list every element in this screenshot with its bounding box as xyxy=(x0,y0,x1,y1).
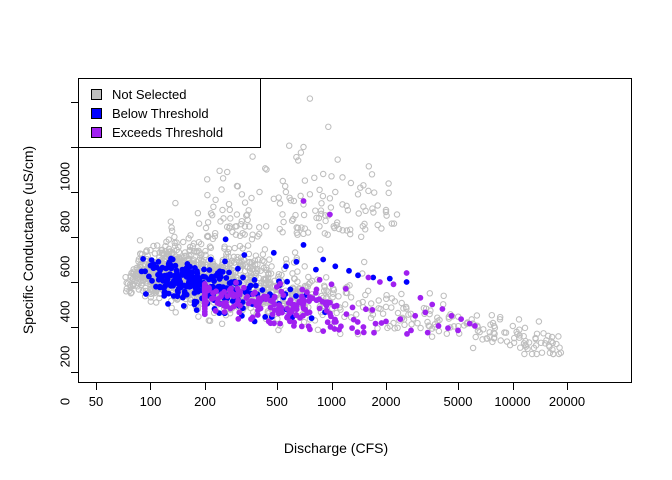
data-point xyxy=(376,298,381,303)
data-point xyxy=(224,293,230,299)
data-point xyxy=(370,307,376,313)
data-point xyxy=(522,351,527,356)
data-point xyxy=(441,293,446,298)
data-point xyxy=(168,219,173,224)
data-point xyxy=(195,274,201,280)
data-point xyxy=(232,245,237,250)
data-point xyxy=(333,189,338,194)
data-point xyxy=(332,263,338,269)
data-point xyxy=(181,239,186,244)
data-point xyxy=(241,252,247,258)
data-point xyxy=(384,296,389,301)
data-point xyxy=(399,291,404,296)
data-point xyxy=(202,282,208,288)
data-point xyxy=(473,334,478,339)
data-point xyxy=(275,316,280,321)
data-point xyxy=(172,234,177,239)
data-point xyxy=(256,300,262,306)
legend-swatch-not-selected xyxy=(91,89,102,100)
x-tick-label: 20000 xyxy=(549,394,585,409)
data-point xyxy=(474,313,479,318)
data-point xyxy=(173,200,178,205)
data-point xyxy=(226,201,231,206)
data-point xyxy=(375,222,380,227)
data-point xyxy=(510,323,515,328)
data-point xyxy=(295,269,300,274)
data-point xyxy=(317,187,322,192)
data-point xyxy=(146,274,152,280)
data-point xyxy=(288,297,294,303)
data-point xyxy=(386,181,391,186)
x-tick-label: 200 xyxy=(194,394,216,409)
data-point xyxy=(180,267,186,273)
data-point xyxy=(536,319,541,324)
data-point xyxy=(380,311,385,316)
data-point xyxy=(207,267,213,273)
data-point xyxy=(252,277,258,283)
data-point xyxy=(228,216,233,221)
data-point xyxy=(249,298,255,304)
data-point xyxy=(504,339,509,344)
data-point xyxy=(157,284,163,290)
data-point xyxy=(427,291,432,296)
data-point xyxy=(323,218,328,223)
data-point xyxy=(304,310,310,316)
data-point xyxy=(324,275,329,280)
data-point xyxy=(355,329,361,335)
data-point xyxy=(155,272,161,278)
data-point xyxy=(355,192,360,197)
data-point xyxy=(301,242,307,248)
data-point xyxy=(165,301,171,307)
data-point xyxy=(203,225,208,230)
data-point xyxy=(219,291,225,297)
x-tick-label: 5000 xyxy=(444,394,473,409)
data-point xyxy=(445,325,451,331)
data-point xyxy=(244,295,250,301)
data-point xyxy=(257,225,262,230)
data-point xyxy=(219,187,224,192)
data-point xyxy=(228,286,234,292)
data-point xyxy=(205,220,210,225)
data-point xyxy=(301,144,306,149)
data-point xyxy=(234,301,240,307)
data-point xyxy=(245,243,250,248)
data-point xyxy=(302,264,307,269)
data-point xyxy=(317,224,322,229)
data-point xyxy=(313,267,319,273)
data-point xyxy=(217,168,222,173)
x-axis-title: Discharge (CFS) xyxy=(0,440,672,456)
data-point xyxy=(320,257,326,263)
data-point xyxy=(281,219,286,224)
data-point xyxy=(556,334,561,339)
data-point xyxy=(335,157,340,162)
data-point xyxy=(167,271,173,277)
data-point xyxy=(220,207,225,212)
data-point xyxy=(397,316,403,322)
data-point xyxy=(325,289,330,294)
data-point xyxy=(154,300,159,305)
data-point xyxy=(418,295,424,301)
data-point xyxy=(301,212,306,217)
data-point xyxy=(489,313,494,318)
data-point xyxy=(266,319,272,325)
data-point xyxy=(373,321,379,327)
data-point xyxy=(201,267,207,273)
data-point xyxy=(404,279,410,285)
data-point xyxy=(386,190,391,195)
data-point xyxy=(219,321,224,326)
data-point xyxy=(137,238,142,243)
data-point xyxy=(248,283,254,289)
data-point xyxy=(287,287,293,293)
data-point xyxy=(366,188,371,193)
data-point xyxy=(329,281,335,287)
data-point xyxy=(160,265,166,271)
data-point xyxy=(302,178,307,183)
data-point xyxy=(250,291,256,297)
data-point xyxy=(215,270,221,276)
data-point xyxy=(140,256,146,262)
data-point xyxy=(429,334,434,339)
x-tick-label: 2000 xyxy=(372,394,401,409)
data-point xyxy=(183,283,189,289)
data-point xyxy=(227,207,232,212)
data-point xyxy=(343,302,348,307)
data-point xyxy=(394,212,399,217)
data-point xyxy=(313,208,318,213)
data-point xyxy=(383,304,388,309)
data-point xyxy=(196,314,201,319)
x-tick-label: 500 xyxy=(266,394,288,409)
data-point xyxy=(223,303,229,309)
data-point xyxy=(250,315,256,321)
data-point xyxy=(164,282,170,288)
data-point xyxy=(205,177,210,182)
data-point xyxy=(170,257,176,263)
data-point xyxy=(260,287,266,293)
data-point xyxy=(307,326,313,332)
data-point xyxy=(217,276,223,282)
data-point xyxy=(235,316,241,322)
data-point xyxy=(194,307,200,313)
data-point xyxy=(222,259,228,265)
data-point xyxy=(283,189,288,194)
data-point xyxy=(169,225,174,230)
data-point xyxy=(330,295,335,300)
data-point xyxy=(242,200,247,205)
data-point xyxy=(340,175,345,180)
data-point xyxy=(223,275,229,281)
data-point xyxy=(195,211,200,216)
data-point xyxy=(351,317,357,323)
data-point xyxy=(223,236,229,242)
data-point xyxy=(320,193,325,198)
data-point xyxy=(240,275,246,281)
data-point xyxy=(317,277,323,283)
data-point xyxy=(539,350,544,355)
data-point xyxy=(213,288,219,294)
legend: Not Selected Below Threshold Exceeds Thr… xyxy=(78,78,261,148)
data-point xyxy=(412,313,418,319)
data-point xyxy=(280,292,286,298)
data-point xyxy=(348,180,353,185)
data-point xyxy=(436,323,442,329)
legend-item-below-threshold: Below Threshold xyxy=(91,104,260,123)
data-point xyxy=(196,281,202,287)
data-point xyxy=(369,172,374,177)
data-point xyxy=(162,290,168,296)
data-point xyxy=(366,164,371,169)
data-point xyxy=(458,316,464,322)
data-point xyxy=(328,205,333,210)
data-point xyxy=(173,279,179,285)
data-point xyxy=(235,266,241,272)
data-point xyxy=(202,297,208,303)
data-point xyxy=(449,313,455,319)
data-point xyxy=(441,302,446,307)
data-point xyxy=(355,272,361,278)
data-point xyxy=(222,309,228,315)
data-point xyxy=(293,293,299,299)
data-point xyxy=(363,306,369,312)
data-point xyxy=(280,212,285,217)
data-point xyxy=(498,338,503,343)
data-point xyxy=(516,317,521,322)
data-point xyxy=(208,257,214,263)
data-point xyxy=(327,196,332,201)
data-point xyxy=(271,250,277,256)
data-point xyxy=(233,280,239,286)
data-point xyxy=(472,323,478,329)
data-point xyxy=(314,297,320,303)
data-point xyxy=(299,324,305,330)
data-point xyxy=(156,259,162,265)
data-point xyxy=(280,178,285,183)
data-point xyxy=(399,300,404,305)
data-point xyxy=(369,301,374,306)
data-point xyxy=(423,310,429,316)
data-point xyxy=(395,310,400,315)
x-tick-label: 1000 xyxy=(317,394,346,409)
legend-label-not-selected: Not Selected xyxy=(112,88,186,101)
data-point xyxy=(283,184,288,189)
data-point xyxy=(279,305,285,311)
scatter-plot-figure: 5010020050010002000500010000200000200400… xyxy=(0,0,672,480)
data-point xyxy=(226,270,232,276)
data-point xyxy=(408,328,414,334)
data-point xyxy=(327,311,333,317)
data-point xyxy=(202,274,208,280)
data-point xyxy=(192,302,198,308)
data-point xyxy=(362,259,367,264)
data-point xyxy=(440,306,446,312)
data-point xyxy=(307,96,312,101)
data-point xyxy=(418,325,423,330)
data-point xyxy=(349,325,355,331)
data-point xyxy=(301,300,307,306)
data-point xyxy=(192,290,198,296)
data-point xyxy=(325,319,331,325)
data-point xyxy=(149,257,155,263)
x-tick-label: 100 xyxy=(140,394,162,409)
legend-label-below-threshold: Below Threshold xyxy=(112,107,209,120)
data-point xyxy=(404,270,410,276)
data-point xyxy=(236,310,242,316)
data-point xyxy=(209,274,215,280)
data-point xyxy=(213,308,219,314)
data-point xyxy=(213,197,218,202)
data-point xyxy=(239,192,244,197)
x-tick-label: 10000 xyxy=(494,394,530,409)
data-point xyxy=(391,281,397,287)
data-point xyxy=(361,330,367,336)
data-point xyxy=(350,305,356,311)
data-point xyxy=(181,303,187,309)
data-point xyxy=(143,291,149,297)
data-point xyxy=(260,252,265,257)
data-point xyxy=(312,175,317,180)
data-point xyxy=(271,301,277,307)
data-point xyxy=(294,259,300,265)
data-point xyxy=(389,305,394,310)
legend-swatch-below-threshold xyxy=(91,108,102,119)
data-point xyxy=(151,265,157,271)
data-point xyxy=(375,203,380,208)
data-point xyxy=(329,174,334,179)
data-point xyxy=(142,268,148,274)
data-point xyxy=(269,264,274,269)
data-point xyxy=(384,213,389,218)
data-point xyxy=(354,312,359,317)
data-point xyxy=(455,328,461,334)
data-point xyxy=(307,192,312,197)
data-point xyxy=(249,195,254,200)
data-point xyxy=(326,124,331,129)
data-point xyxy=(333,319,339,325)
data-point xyxy=(211,204,216,209)
data-point xyxy=(185,263,191,269)
data-point xyxy=(196,221,201,226)
data-point xyxy=(151,243,156,248)
data-point xyxy=(359,234,364,239)
data-point xyxy=(336,294,341,299)
legend-swatch-exceeds-threshold xyxy=(91,127,102,138)
data-point xyxy=(192,265,198,271)
data-point xyxy=(264,167,269,172)
data-point xyxy=(287,318,293,324)
data-point xyxy=(292,250,297,255)
data-point xyxy=(481,327,486,332)
data-point xyxy=(283,263,289,269)
data-point xyxy=(301,198,307,204)
data-point xyxy=(215,300,221,306)
data-point xyxy=(522,325,527,330)
data-point xyxy=(336,327,342,333)
data-point xyxy=(234,212,239,217)
data-point xyxy=(173,263,179,269)
data-point xyxy=(284,279,290,285)
data-point xyxy=(203,248,208,253)
data-point xyxy=(315,327,320,332)
data-point xyxy=(184,292,190,298)
data-point xyxy=(175,288,181,294)
data-point xyxy=(250,154,255,159)
data-point xyxy=(205,192,210,197)
data-point xyxy=(253,283,259,289)
data-point xyxy=(470,345,475,350)
data-point xyxy=(211,295,217,301)
data-point xyxy=(541,331,546,336)
data-point xyxy=(276,195,281,200)
data-point xyxy=(306,274,311,279)
data-point xyxy=(220,269,226,275)
data-point xyxy=(173,310,178,315)
data-point xyxy=(391,320,396,325)
data-point xyxy=(241,285,247,291)
data-point xyxy=(184,270,190,276)
data-point xyxy=(287,143,292,148)
data-point xyxy=(225,169,230,174)
data-point xyxy=(344,311,350,317)
data-point xyxy=(318,247,323,252)
data-point xyxy=(321,171,326,176)
data-point xyxy=(301,306,307,312)
data-point xyxy=(231,292,237,298)
data-point xyxy=(444,331,449,336)
y-tick-label: 1000 xyxy=(58,147,73,207)
data-point xyxy=(366,275,372,281)
data-point xyxy=(409,322,414,327)
data-point xyxy=(371,330,377,336)
data-point xyxy=(220,176,225,181)
data-point xyxy=(277,281,283,287)
data-point xyxy=(402,322,407,327)
data-point xyxy=(363,292,368,297)
data-point xyxy=(317,306,323,312)
data-point xyxy=(377,279,383,285)
data-point xyxy=(258,306,264,312)
x-tick-label: 50 xyxy=(89,394,103,409)
data-point xyxy=(361,324,367,330)
data-point xyxy=(162,273,168,279)
data-point xyxy=(298,150,303,155)
legend-item-not-selected: Not Selected xyxy=(91,85,260,104)
data-point xyxy=(262,259,267,264)
data-point xyxy=(327,212,333,218)
data-point xyxy=(257,189,262,194)
legend-item-exceeds-threshold: Exceeds Threshold xyxy=(91,123,260,142)
data-point xyxy=(372,190,377,195)
data-point xyxy=(334,303,340,309)
data-point xyxy=(324,303,330,309)
legend-label-exceeds-threshold: Exceeds Threshold xyxy=(112,126,223,139)
data-point xyxy=(314,287,320,293)
data-point xyxy=(299,287,305,293)
data-point xyxy=(255,312,261,318)
data-point xyxy=(261,294,267,300)
data-point xyxy=(290,306,296,312)
data-point xyxy=(277,321,283,327)
data-point xyxy=(518,345,523,350)
data-point xyxy=(291,323,297,329)
data-point xyxy=(343,286,349,292)
data-point xyxy=(346,268,352,274)
data-point xyxy=(425,330,431,336)
data-point xyxy=(309,315,315,321)
data-point xyxy=(387,276,393,282)
